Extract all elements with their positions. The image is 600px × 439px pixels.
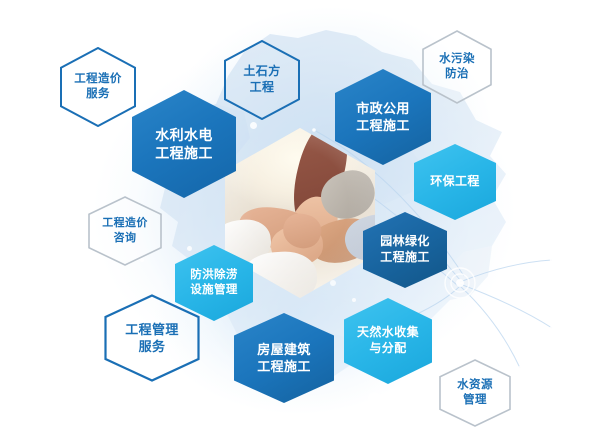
hexagon-label-line1: 工程造价 (74, 72, 122, 87)
hexagon-label: 天然水收集 与分配 (344, 298, 432, 384)
hexagon-label-line2: 管理 (463, 393, 487, 408)
hexagon-label: 工程管理 服务 (104, 294, 200, 382)
hexagon-label-line1: 环保工程 (430, 174, 480, 190)
hexagon-landscape-greening-construction[interactable]: 园林绿化 工程施工 (363, 212, 447, 288)
hexagon-label-line2: 工程施工 (257, 358, 311, 375)
hexagon-natural-water-collection-distribution[interactable]: 天然水收集 与分配 (344, 298, 432, 384)
hexagon-label-line2: 工程施工 (380, 250, 430, 266)
hexagon-label: 工程造价 服务 (60, 47, 136, 127)
hexagon-label-line1: 天然水收集 (357, 325, 419, 341)
hexagon-label-line1: 土石方 (243, 64, 280, 80)
hexagon-engineering-cost-service[interactable]: 工程造价 服务 (60, 47, 136, 127)
hexagon-label-line2: 咨询 (114, 231, 137, 246)
hexagon-label: 水污染 防治 (422, 30, 492, 104)
hexagon-water-resources-management[interactable]: 水资源 管理 (439, 359, 511, 427)
infographic-canvas: 工程造价 服务 土石方 工程 水利水电 工程施工 市政公用 工程施工 (0, 0, 600, 439)
hexagon-environmental-protection-engineering[interactable]: 环保工程 (414, 144, 496, 220)
hexagon-label-line1: 水利水电 (155, 126, 213, 144)
hexagon-engineering-cost-consulting[interactable]: 工程造价 咨询 (88, 196, 162, 266)
hexagon-label: 园林绿化 工程施工 (363, 212, 447, 288)
hexagon-label: 房屋建筑 工程施工 (234, 313, 334, 403)
hexagon-label-line1: 水资源 (457, 378, 493, 393)
hexagon-label-line2: 与分配 (369, 341, 406, 357)
hexagon-label: 工程造价 咨询 (88, 196, 162, 266)
hexagon-engineering-management-service[interactable]: 工程管理 服务 (104, 294, 200, 382)
hexagon-label-line2: 工程施工 (356, 117, 410, 134)
hexagon-label-line2: 防治 (445, 67, 469, 82)
hexagon-label-line2: 工程 (250, 80, 275, 96)
hexagon-label-line2: 服务 (139, 338, 166, 355)
hexagon-label-line1: 市政公用 (356, 100, 410, 117)
hexagon-water-conservancy-hydropower-construction[interactable]: 水利水电 工程施工 (132, 90, 236, 198)
hexagon-label-line1: 防洪除涝 (190, 268, 238, 283)
hexagon-label-line1: 房屋建筑 (257, 341, 311, 358)
hexagon-label-line1: 水污染 (439, 52, 475, 67)
hexagon-label-line1: 工程管理 (125, 321, 179, 338)
hexagon-label-line2: 服务 (86, 87, 110, 102)
hexagon-label-line1: 工程造价 (102, 216, 148, 231)
hexagon-label-line2: 工程施工 (155, 144, 213, 162)
hexagon-label: 水利水电 工程施工 (132, 90, 236, 198)
hexagon-water-pollution-control[interactable]: 水污染 防治 (422, 30, 492, 104)
hexagon-housing-building-construction[interactable]: 房屋建筑 工程施工 (234, 313, 334, 403)
hexagon-label: 环保工程 (414, 144, 496, 220)
hexagon-label: 水资源 管理 (439, 359, 511, 427)
hexagon-label-line1: 园林绿化 (380, 234, 430, 250)
